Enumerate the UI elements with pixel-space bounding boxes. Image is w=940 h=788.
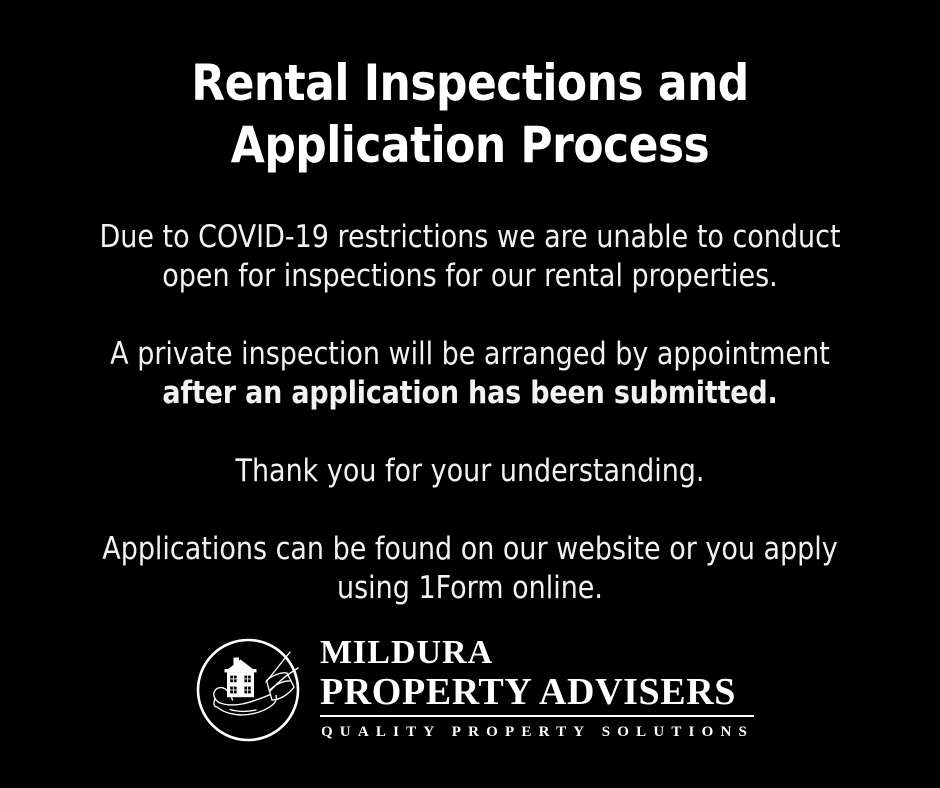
page-title-line-2: Application Process — [56, 114, 883, 176]
body-copy: Due to COVID-19 restrictions we are unab… — [61, 218, 879, 608]
brand-divider — [320, 715, 754, 717]
paragraph-3: Thank you for your understanding. — [61, 452, 879, 491]
brand-logo: MILDURA PROPERTY ADVISERS QUALITY PROPER… — [0, 628, 940, 758]
hand-holding-house-circle-icon — [186, 628, 310, 752]
brand-name-line-1: MILDURA — [320, 636, 493, 670]
paragraph-1-line-1: Due to COVID-19 restrictions we are unab… — [61, 218, 879, 257]
brand-tagline: QUALITY PROPERTY SOLUTIONS — [320, 722, 754, 742]
paragraph-2-line-1: A private inspection will be arranged by… — [61, 335, 879, 374]
paragraph-4-line-2: using 1Form online. — [61, 569, 879, 608]
paragraph-4-line-1: Applications can be found on our website… — [61, 530, 879, 569]
paragraph-4: Applications can be found on our website… — [61, 530, 879, 608]
brand-name-line-2: PROPERTY ADVISERS — [320, 672, 736, 712]
poster-canvas: Rental Inspections and Application Proce… — [0, 0, 940, 788]
paragraph-2: A private inspection will be arranged by… — [61, 335, 879, 413]
paragraph-1-line-2: open for inspections for our rental prop… — [61, 257, 879, 296]
page-title-line-1: Rental Inspections and — [56, 52, 883, 114]
paragraph-3-line-1: Thank you for your understanding. — [61, 452, 879, 491]
page-title: Rental Inspections and Application Proce… — [56, 52, 883, 176]
paragraph-2-line-2-emphasis: after an application has been submitted. — [61, 374, 879, 413]
paragraph-1: Due to COVID-19 restrictions we are unab… — [61, 218, 879, 296]
brand-wordmark: MILDURA PROPERTY ADVISERS QUALITY PROPER… — [320, 628, 754, 742]
